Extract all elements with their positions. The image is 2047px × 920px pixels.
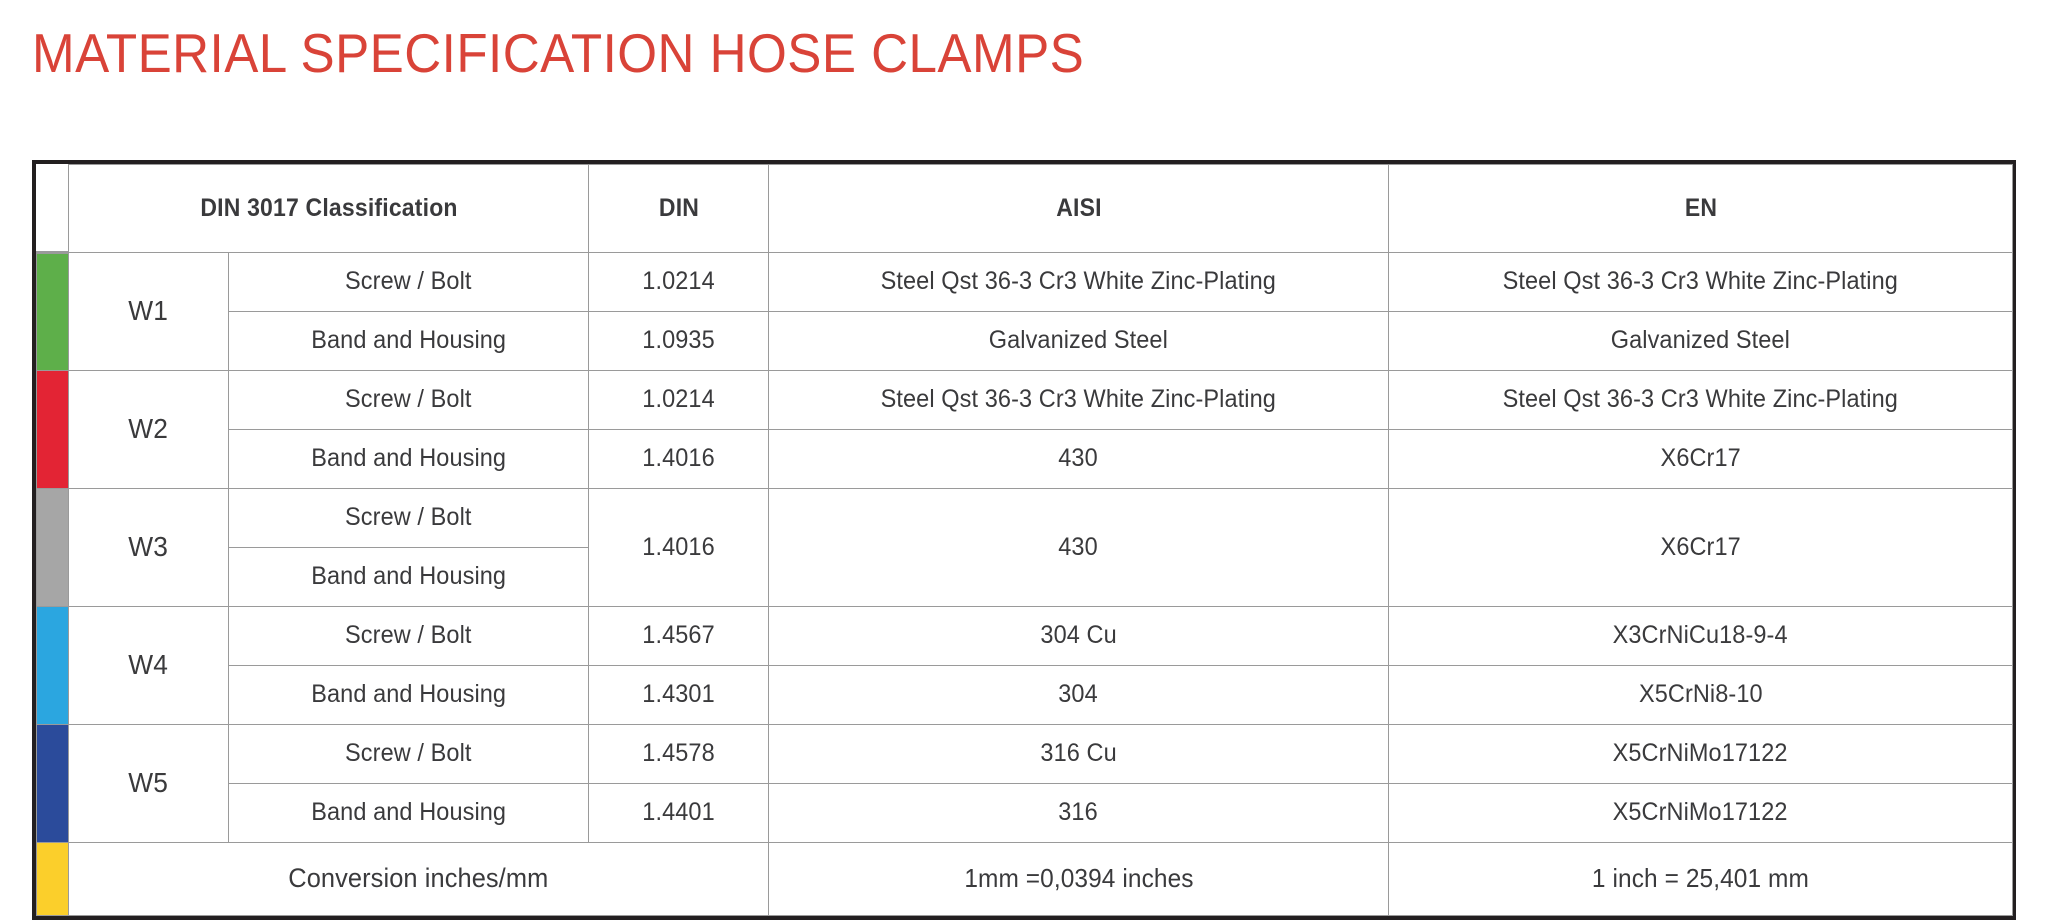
part-name-cell: Screw / Bolt [229,488,589,547]
part-name-label: Screw / Bolt [345,267,472,296]
part-name-cell: Band and Housing [229,429,589,488]
group-code-w1: W1 [69,252,229,370]
aisi-value-cell: 430 [769,429,1389,488]
en-value-label: Steel Qst 36-3 Cr3 White Zinc-Plating [1503,267,1898,296]
color-swatch-conversion [37,842,69,915]
group-code-label: W1 [129,295,169,327]
en-value-label: X5CrNiMo17122 [1613,798,1788,827]
en-value-cell: Steel Qst 36-3 Cr3 White Zinc-Plating [1389,370,2013,429]
en-value-label: X5CrNiMo17122 [1613,739,1788,768]
header-swatch-spacer [38,165,67,253]
page-title: MATERIAL SPECIFICATION HOSE CLAMPS [32,22,1084,84]
color-swatch-w4 [37,606,69,724]
din-value-cell: 1.4567 [589,606,769,665]
din-value-label: 1.0214 [642,385,714,414]
conversion-row: Conversion inches/mm 1mm =0,0394 inches … [37,842,2013,915]
conversion-inch-to-mm-cell: 1 inch = 25,401 mm [1389,842,2013,915]
part-name-cell: Band and Housing [229,547,589,606]
color-swatch-w5 [37,724,69,842]
din-value-cell: 1.0214 [589,370,769,429]
en-value-cell: X5CrNiMo17122 [1389,783,2013,842]
part-name-label: Screw / Bolt [345,621,472,650]
color-chip [37,371,69,488]
en-value-cell: X5CrNi8-10 [1389,665,2013,724]
en-value-label: X5CrNi8-10 [1639,680,1763,709]
table-row: W1 Screw / Bolt 1.0214 Steel Qst 36-3 Cr… [37,252,2013,311]
color-chip [37,607,69,724]
din-value-label: 1.0935 [642,326,714,355]
group-code-label: W3 [129,531,169,563]
header-din: DIN [596,165,762,253]
en-value-label: X6Cr17 [1660,533,1740,562]
en-value-label: Galvanized Steel [1611,326,1790,355]
color-chip [37,489,69,606]
table-row: W5 Screw / Bolt 1.4578 316 Cu X5CrNiMo17… [37,724,2013,783]
part-name-label: Band and Housing [311,562,506,591]
en-value-label: X6Cr17 [1660,444,1740,473]
en-value-cell: X6Cr17 [1389,429,2013,488]
header-din3017-classification: DIN 3017 Classification [89,165,567,253]
group-code-w3: W3 [69,488,229,606]
aisi-value-label: Steel Qst 36-3 Cr3 White Zinc-Plating [881,267,1276,296]
color-swatch-w1 [37,252,69,370]
en-value-label: X3CrNiCu18-9-4 [1613,621,1788,650]
en-value-cell: X5CrNiMo17122 [1389,724,2013,783]
color-chip [37,843,69,915]
table-row: Band and Housing 1.4401 316 X5CrNiMo1712… [37,783,2013,842]
table-row: W2 Screw / Bolt 1.0214 Steel Qst 36-3 Cr… [37,370,2013,429]
aisi-value-label: 304 Cu [1040,621,1116,650]
material-specification-table: DIN 3017 Classification DIN AISI EN [36,164,2013,916]
table-row: W3 Screw / Bolt 1.4016 430 X6Cr17 [37,488,2013,547]
aisi-value-cell: Galvanized Steel [769,311,1389,370]
aisi-value-label: 430 [1059,533,1098,562]
table-row: Band and Housing 1.4301 304 X5CrNi8-10 [37,665,2013,724]
header-aisi-label: AISI [1056,194,1101,222]
table-row: Band and Housing 1.4016 430 X6Cr17 [37,429,2013,488]
table-row: W4 Screw / Bolt 1.4567 304 Cu X3CrNiCu18… [37,606,2013,665]
din-value-cell: 1.0214 [589,252,769,311]
part-name-label: Band and Housing [311,326,506,355]
group-code-w5: W5 [69,724,229,842]
din-value-cell: 1.4301 [589,665,769,724]
en-value-cell: X3CrNiCu18-9-4 [1389,606,2013,665]
aisi-value-cell: 304 [769,665,1389,724]
table-header-row: DIN 3017 Classification DIN AISI EN [37,165,2013,253]
part-name-cell: Band and Housing [229,783,589,842]
part-name-label: Screw / Bolt [345,385,472,414]
aisi-value-cell: 316 Cu [769,724,1389,783]
header-din3017-classification-label: DIN 3017 Classification [200,194,457,222]
part-name-cell: Screw / Bolt [229,370,589,429]
aisi-value-cell: 316 [769,783,1389,842]
part-name-cell: Screw / Bolt [229,252,589,311]
din-value-cell-merged: 1.4016 [589,488,769,606]
aisi-value-label: 316 Cu [1040,739,1116,768]
color-swatch-w3 [37,488,69,606]
aisi-value-label: 430 [1059,444,1098,473]
din-value-label: 1.4016 [642,533,714,562]
header-aisi: AISI [793,165,1363,253]
din-value-label: 1.4578 [642,739,714,768]
aisi-value-label: Galvanized Steel [989,326,1168,355]
en-value-cell: Galvanized Steel [1389,311,2013,370]
part-name-label: Band and Housing [311,444,506,473]
din-value-cell: 1.4578 [589,724,769,783]
part-name-label: Screw / Bolt [345,503,472,532]
header-en: EN [1413,165,1987,253]
part-name-label: Screw / Bolt [345,739,472,768]
conversion-label-cell: Conversion inches/mm [69,842,769,915]
aisi-value-cell: 304 Cu [769,606,1389,665]
din-value-cell: 1.4016 [589,429,769,488]
header-en-label: EN [1684,194,1716,222]
din-value-label: 1.4401 [642,798,714,827]
spec-table-container: DIN 3017 Classification DIN AISI EN [32,160,2016,920]
part-name-cell: Screw / Bolt [229,606,589,665]
group-code-w2: W2 [69,370,229,488]
material-specification-page: MATERIAL SPECIFICATION HOSE CLAMPS DIN 3… [0,0,2047,868]
color-chip [37,254,69,370]
aisi-value-cell: Steel Qst 36-3 Cr3 White Zinc-Plating [769,252,1389,311]
part-name-label: Band and Housing [311,798,506,827]
part-name-cell: Screw / Bolt [229,724,589,783]
group-code-label: W2 [129,413,169,445]
part-name-cell: Band and Housing [229,665,589,724]
group-code-w4: W4 [69,606,229,724]
din-value-cell: 1.4401 [589,783,769,842]
group-code-label: W5 [129,767,169,799]
din-value-label: 1.0214 [642,267,714,296]
part-name-cell: Band and Housing [229,311,589,370]
aisi-value-cell-merged: 430 [769,488,1389,606]
part-name-label: Band and Housing [311,680,506,709]
din-value-label: 1.4567 [642,621,714,650]
conversion-mm-to-inches-cell: 1mm =0,0394 inches [769,842,1389,915]
aisi-value-label: 316 [1059,798,1098,827]
din-value-label: 1.4301 [642,680,714,709]
din-value-label: 1.4016 [642,444,714,473]
aisi-value-label: 304 [1059,680,1098,709]
group-code-label: W4 [129,649,169,681]
en-value-cell: Steel Qst 36-3 Cr3 White Zinc-Plating [1389,252,2013,311]
header-din-label: DIN [658,194,698,222]
en-value-label: Steel Qst 36-3 Cr3 White Zinc-Plating [1503,385,1898,414]
aisi-value-cell: Steel Qst 36-3 Cr3 White Zinc-Plating [769,370,1389,429]
table-row: Band and Housing 1.0935 Galvanized Steel… [37,311,2013,370]
en-value-cell-merged: X6Cr17 [1389,488,2013,606]
din-value-cell: 1.0935 [589,311,769,370]
color-chip [37,725,69,842]
aisi-value-label: Steel Qst 36-3 Cr3 White Zinc-Plating [881,385,1276,414]
color-swatch-w2 [37,370,69,488]
